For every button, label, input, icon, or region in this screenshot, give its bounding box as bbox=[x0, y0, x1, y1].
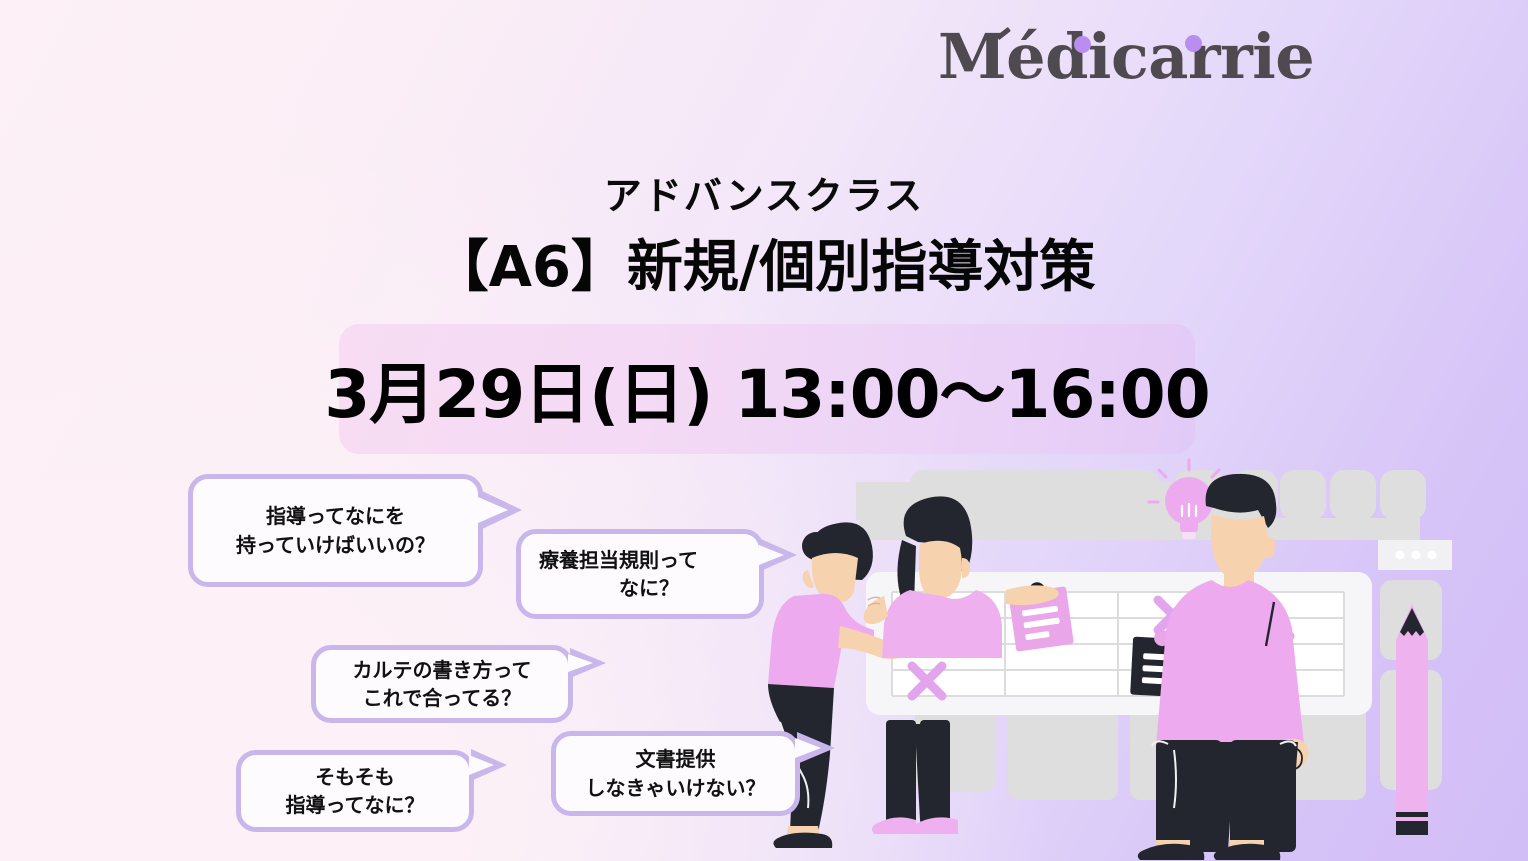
seminar-title: 【A6】新規/個別指導対策 bbox=[0, 222, 1528, 303]
brand-logo-text: Médicarrie bbox=[938, 14, 1278, 100]
speech-bubble-1-tail-fill bbox=[478, 497, 508, 523]
speech-bubble-5: 文書提供 しなきゃいけない？ bbox=[551, 731, 800, 816]
speech-bubble-5-tail-fill bbox=[795, 738, 821, 758]
speech-bubble-4-line-1: そもそも bbox=[315, 763, 395, 791]
speech-bubble-2: 療養担当規則って なに？ bbox=[516, 529, 764, 619]
speech-bubble-1: 指導ってなにを 持っていけばいいの？ bbox=[188, 474, 483, 587]
speech-bubble-3-line-2: これで合ってる？ bbox=[363, 684, 521, 712]
date-time-text: 3月29日(日) 13:00〜16:00 bbox=[324, 341, 1209, 437]
poster-canvas: Médicarrie アドバンスクラス 【A6】新規/個別指導対策 3月29日(… bbox=[0, 0, 1528, 861]
illustration-seminar-scene bbox=[760, 440, 1528, 861]
speech-bubble-4-line-2: 指導ってなに？ bbox=[286, 791, 425, 819]
speech-bubble-1-line-1: 指導ってなにを bbox=[266, 502, 405, 530]
speech-bubble-5-line-2: しなきゃいけない？ bbox=[586, 774, 766, 802]
speech-bubble-2-tail-fill bbox=[759, 545, 784, 565]
speech-bubble-2-line-2: なに？ bbox=[619, 574, 679, 602]
speech-bubble-4: そもそも 指導ってなに？ bbox=[236, 750, 474, 832]
seminar-subtitle: アドバンスクラス bbox=[0, 165, 1528, 220]
date-time-banner: 3月29日(日) 13:00〜16:00 bbox=[339, 324, 1195, 454]
speech-bubble-2-line-1: 療養担当規則って bbox=[539, 546, 698, 574]
speech-bubble-3-line-1: カルテの書き方って bbox=[353, 656, 532, 684]
speech-bubble-4-tail-fill bbox=[469, 755, 494, 775]
speech-bubble-5-line-1: 文書提供 bbox=[636, 745, 716, 773]
speech-bubble-3: カルテの書き方って これで合ってる？ bbox=[311, 645, 573, 723]
logo-dot-e-icon bbox=[1185, 35, 1202, 52]
logo-dot-i-icon bbox=[1074, 36, 1091, 53]
speech-bubble-1-line-2: 持っていけばいいの？ bbox=[236, 531, 435, 559]
speech-bubble-3-tail-fill bbox=[568, 654, 593, 672]
brand-logo: Médicarrie bbox=[938, 14, 1278, 100]
